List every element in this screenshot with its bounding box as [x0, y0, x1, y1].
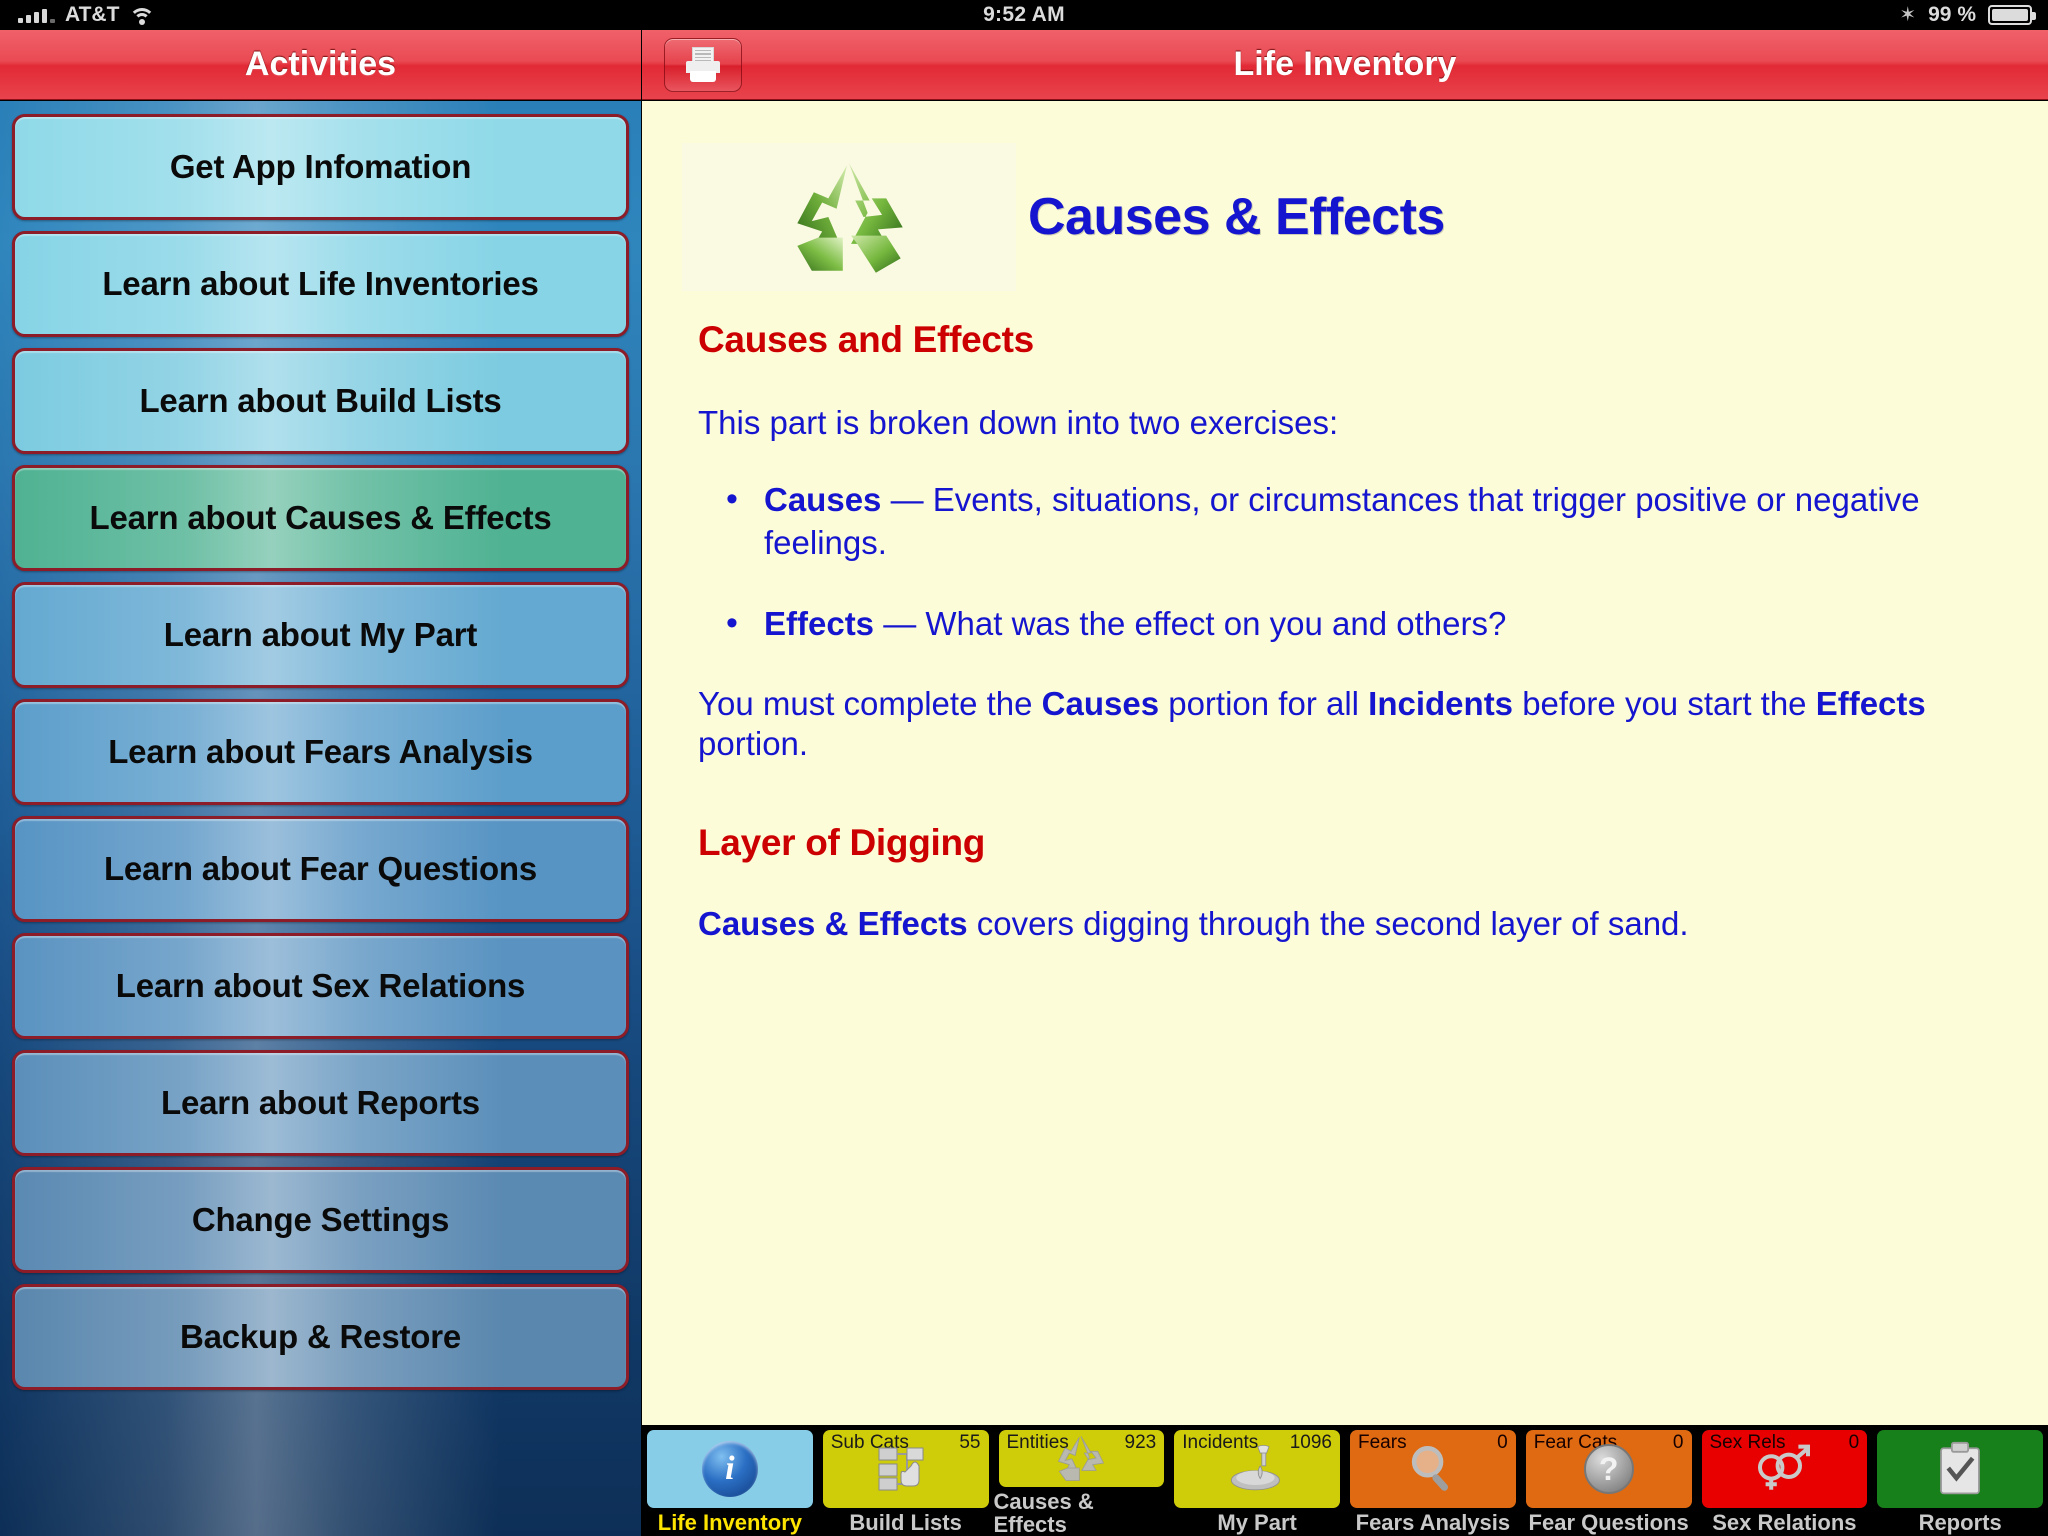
- tab-label: Sex Relations: [1712, 1511, 1856, 1534]
- content-header: Causes & Effects: [642, 101, 2048, 291]
- tab-label: Reports: [1919, 1511, 2002, 1534]
- status-bar: AT&T 9:52 AM ✶ 99 %: [0, 0, 2048, 30]
- sidebar-item-my-part[interactable]: Learn about My Part: [12, 582, 629, 688]
- req-part-4: portion.: [698, 725, 808, 762]
- tab-card: Incidents 1096: [1174, 1430, 1340, 1508]
- sidebar-item-label: Learn about Build Lists: [139, 382, 501, 420]
- req-part-2: portion for all: [1159, 685, 1368, 722]
- tab-icon-wrap: [1877, 1430, 2043, 1508]
- tab-icon-wrap: [1702, 1430, 1868, 1508]
- sidebar-item-label: Learn about Life Inventories: [102, 265, 538, 303]
- sidebar-item-reports[interactable]: Learn about Reports: [12, 1050, 629, 1156]
- battery-icon: [1988, 5, 2032, 25]
- sidebar-item-label: Learn about Fears Analysis: [108, 733, 533, 771]
- section-heading-causes-and-effects: Causes and Effects: [698, 319, 1992, 361]
- activities-sidebar[interactable]: Get App Infomation Learn about Life Inve…: [0, 101, 641, 1536]
- tab-my-part[interactable]: Incidents 1096 My Part: [1169, 1425, 1345, 1536]
- req-bold-effects: Effects: [1816, 685, 1926, 722]
- list-item-term: Causes: [764, 481, 881, 518]
- sidebar-item-label: Get App Infomation: [170, 148, 471, 186]
- sidebar-item-get-app-information[interactable]: Get App Infomation: [12, 114, 629, 220]
- tab-fear-questions[interactable]: Fear Cats 0 ? Fear Questions: [1521, 1425, 1697, 1536]
- layer-text: covers digging through the second layer …: [968, 905, 1689, 942]
- status-bar-right: ✶ 99 %: [1899, 0, 2032, 30]
- list-item-term: Effects: [764, 605, 874, 642]
- tab-icon-wrap: [999, 1430, 1165, 1487]
- requirement-paragraph: You must complete the Causes portion for…: [698, 684, 1992, 765]
- tab-icon-wrap: [823, 1430, 989, 1508]
- sidebar-item-label: Learn about Sex Relations: [116, 967, 525, 1005]
- page-title: Causes & Effects: [1028, 187, 1445, 247]
- req-part-1: You must complete the: [698, 685, 1042, 722]
- tab-icon-wrap: [1350, 1430, 1516, 1508]
- tab-card: Sex Rels 0: [1702, 1430, 1868, 1508]
- tab-card: Fear Cats 0 ?: [1526, 1430, 1692, 1508]
- list-item-text: What was the effect on you and others?: [925, 605, 1506, 642]
- sidebar-item-life-inventories[interactable]: Learn about Life Inventories: [12, 231, 629, 337]
- req-bold-incidents: Incidents: [1368, 685, 1513, 722]
- detail-content-panel: Causes & Effects Causes and Effects This…: [642, 101, 2048, 1425]
- detail-navigation-bar: Life Inventory: [642, 30, 2048, 100]
- hierarchy-hand-icon: [877, 1446, 935, 1492]
- sidebar-item-fears-analysis[interactable]: Learn about Fears Analysis: [12, 699, 629, 805]
- tab-causes-and-effects[interactable]: Entities 923 Causes & Effects: [994, 1425, 1170, 1536]
- tab-sex-relations[interactable]: Sex Rels 0 Sex Relations: [1697, 1425, 1873, 1536]
- tab-build-lists[interactable]: Sub Cats 55 Build Lists: [818, 1425, 994, 1536]
- tab-label: Life Inventory: [658, 1511, 802, 1534]
- tab-label: Build Lists: [849, 1511, 961, 1534]
- tab-card: Fears 0: [1350, 1430, 1516, 1508]
- clipboard-check-icon: [1937, 1441, 1983, 1497]
- tab-card: i: [647, 1430, 813, 1508]
- tab-label: Fears Analysis: [1356, 1511, 1511, 1534]
- sidebar-item-fear-questions[interactable]: Learn about Fear Questions: [12, 816, 629, 922]
- intro-paragraph: This part is broken down into two exerci…: [698, 403, 1992, 443]
- bluetooth-icon: ✶: [1899, 5, 1916, 25]
- req-bold-causes: Causes: [1042, 685, 1159, 722]
- tab-card: [1877, 1430, 2043, 1508]
- sidebar-item-causes-and-effects[interactable]: Learn about Causes & Effects: [12, 465, 629, 571]
- tab-icon-wrap: i: [647, 1430, 813, 1508]
- tab-label: My Part: [1217, 1511, 1296, 1534]
- sidebar-item-label: Backup & Restore: [180, 1318, 461, 1356]
- list-item-dash: —: [874, 605, 925, 642]
- sidebar-navigation-bar: Activities: [0, 30, 641, 100]
- question-mark-icon: ?: [1584, 1444, 1634, 1494]
- recycle-icon: [785, 155, 913, 279]
- app-screen: AT&T 9:52 AM ✶ 99 % Activities Life Inve…: [0, 0, 2048, 1536]
- tab-fears-analysis[interactable]: Fears 0 Fears Analysis: [1345, 1425, 1521, 1536]
- sidebar-item-backup-and-restore[interactable]: Backup & Restore: [12, 1284, 629, 1390]
- recycle-icon-frame: [682, 143, 1016, 291]
- battery-percent-label: 99 %: [1928, 3, 1976, 27]
- list-item: Effects — What was the effect on you and…: [760, 603, 1992, 646]
- sidebar-item-label: Learn about My Part: [164, 616, 477, 654]
- layer-bold-causes-effects: Causes & Effects: [698, 905, 968, 942]
- magnifier-icon: [1406, 1442, 1460, 1496]
- req-part-3: before you start the: [1513, 685, 1816, 722]
- tab-reports[interactable]: Reports: [1872, 1425, 2048, 1536]
- tab-life-inventory[interactable]: i Life Inventory: [642, 1425, 818, 1536]
- sidebar-title: Activities: [245, 45, 396, 84]
- tab-icon-wrap: ?: [1526, 1430, 1692, 1508]
- info-icon: i: [702, 1441, 758, 1497]
- exercise-list: Causes — Events, situations, or circumst…: [698, 479, 1992, 646]
- content-body: Causes and Effects This part is broken d…: [642, 291, 2048, 945]
- section-heading-layer-of-digging: Layer of Digging: [698, 822, 1992, 864]
- tab-label: Fear Questions: [1529, 1511, 1689, 1534]
- list-item: Causes — Events, situations, or circumst…: [760, 479, 1992, 565]
- status-bar-clock: 9:52 AM: [0, 0, 2048, 30]
- shovel-sand-icon: [1225, 1445, 1289, 1493]
- gender-symbols-icon: [1752, 1443, 1816, 1495]
- tab-icon-wrap: [1174, 1430, 1340, 1508]
- bottom-tab-bar[interactable]: i Life Inventory Sub Cats 55: [642, 1425, 2048, 1536]
- detail-title: Life Inventory: [642, 45, 2048, 84]
- recycle-icon: [1053, 1433, 1109, 1483]
- sidebar-item-label: Learn about Fear Questions: [104, 850, 537, 888]
- layer-paragraph: Causes & Effects covers digging through …: [698, 904, 1992, 944]
- list-item-text: Events, situations, or circumstances tha…: [764, 481, 1920, 561]
- tab-card: Sub Cats 55: [823, 1430, 989, 1508]
- sidebar-item-change-settings[interactable]: Change Settings: [12, 1167, 629, 1273]
- sidebar-item-label: Change Settings: [192, 1201, 449, 1239]
- sidebar-item-label: Learn about Causes & Effects: [89, 499, 551, 537]
- sidebar-item-label: Learn about Reports: [161, 1084, 480, 1122]
- list-item-dash: —: [881, 481, 932, 518]
- tab-label: Causes & Effects: [994, 1490, 1170, 1536]
- sidebar-item-sex-relations[interactable]: Learn about Sex Relations: [12, 933, 629, 1039]
- tab-card: Entities 923: [999, 1430, 1165, 1487]
- sidebar-item-build-lists[interactable]: Learn about Build Lists: [12, 348, 629, 454]
